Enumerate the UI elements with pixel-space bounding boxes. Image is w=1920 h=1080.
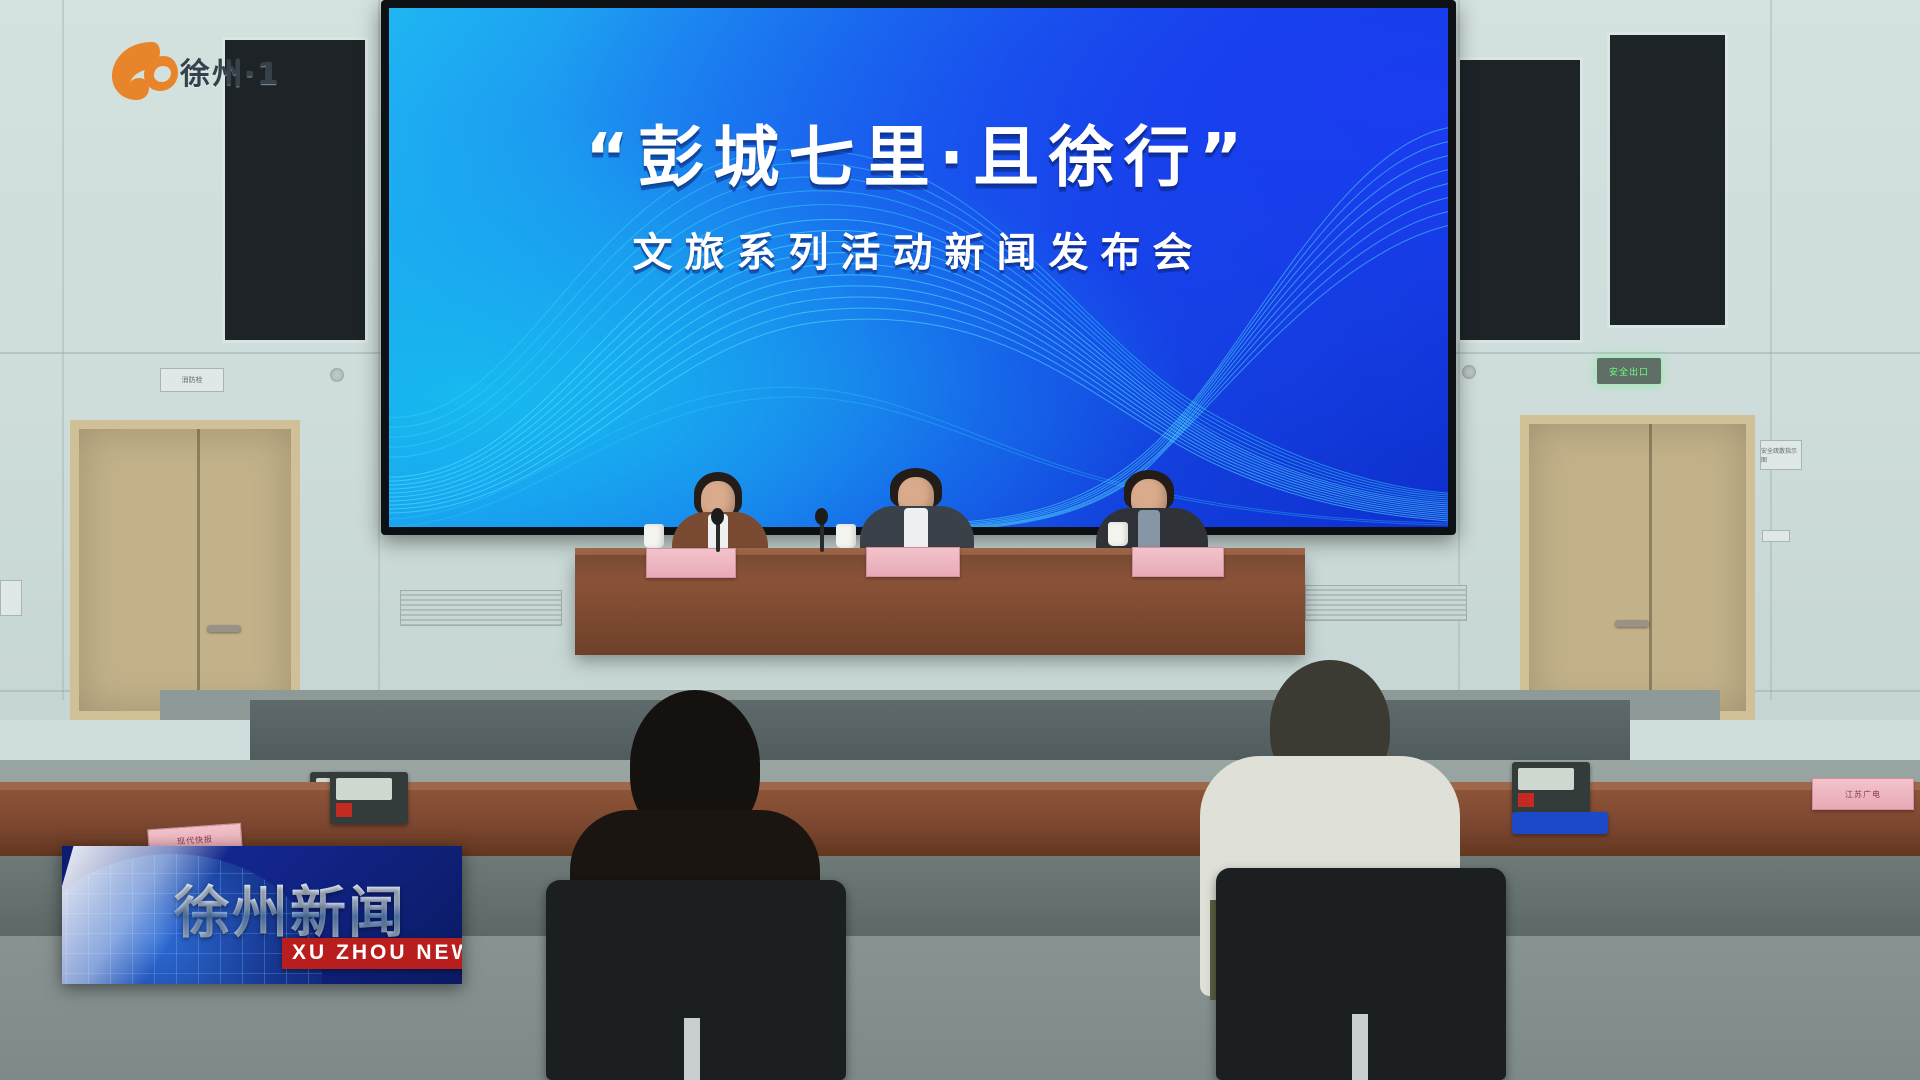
wall-notice-left: 消防栓 — [160, 368, 224, 392]
wall-seam-vertical — [1770, 0, 1772, 700]
acoustic-panel — [1610, 35, 1725, 325]
xuzhou-broadcasting-logo — [108, 38, 186, 104]
led-title: “彭城七里·且徐行” — [389, 104, 1448, 200]
water-cup — [836, 524, 856, 548]
led-subtitle: 文旅系列活动新闻发布会 — [389, 220, 1448, 278]
sprinkler-icon — [1462, 365, 1476, 379]
console-display — [1518, 768, 1574, 790]
led-display-bezel: “彭城七里·且徐行” 文旅系列活动新闻发布会 — [381, 0, 1456, 535]
led-display: “彭城七里·且徐行” 文旅系列活动新闻发布会 — [389, 8, 1448, 527]
channel-bug: 徐州·1 — [108, 38, 280, 104]
video-frame: 消防栓 安全出口 安全疏散指示图 — [0, 0, 1920, 1080]
console-indicator — [336, 803, 352, 817]
nameplate-right — [1132, 547, 1224, 577]
microphone-icon — [815, 508, 828, 525]
program-title-cn: 徐州新闻 — [174, 868, 406, 949]
microphone-icon — [711, 508, 724, 525]
news-lower-third: 徐州新闻 XU ZHOU NEWS — [62, 846, 462, 984]
door-handle-icon[interactable] — [1615, 620, 1649, 627]
nameplate-center — [866, 547, 960, 577]
door-handle-icon[interactable] — [207, 625, 241, 632]
press-desk-console[interactable] — [330, 772, 408, 824]
wall-fitting — [0, 580, 22, 616]
console-display — [336, 778, 392, 800]
chair-stem — [1352, 1014, 1368, 1080]
channel-label: 徐州·1 — [180, 49, 280, 93]
sprinkler-icon — [330, 368, 344, 382]
air-vent — [400, 590, 562, 626]
door-right[interactable] — [1520, 415, 1755, 720]
water-cup — [1108, 522, 1128, 546]
door-split — [197, 429, 200, 711]
water-cup — [644, 524, 664, 548]
desk-folder — [1512, 812, 1608, 834]
console-indicator — [1518, 793, 1534, 807]
air-vent — [1305, 585, 1467, 621]
press-desk-console[interactable] — [1512, 762, 1590, 814]
wall-notice-right: 安全疏散指示图 — [1760, 440, 1802, 470]
wall-seam-vertical — [378, 0, 380, 700]
program-title-en: XU ZHOU NEWS — [282, 938, 462, 969]
chair-stem — [684, 1018, 700, 1080]
door-split — [1649, 424, 1652, 711]
exit-sign: 安全出口 — [1597, 358, 1661, 384]
nameplate-left — [646, 548, 736, 578]
wall-seam-vertical — [62, 0, 64, 700]
press-nameplate-right: 江苏广电 — [1812, 778, 1914, 810]
acoustic-panel — [1460, 60, 1580, 340]
wall-fitting — [1762, 530, 1790, 542]
door-left[interactable] — [70, 420, 300, 720]
